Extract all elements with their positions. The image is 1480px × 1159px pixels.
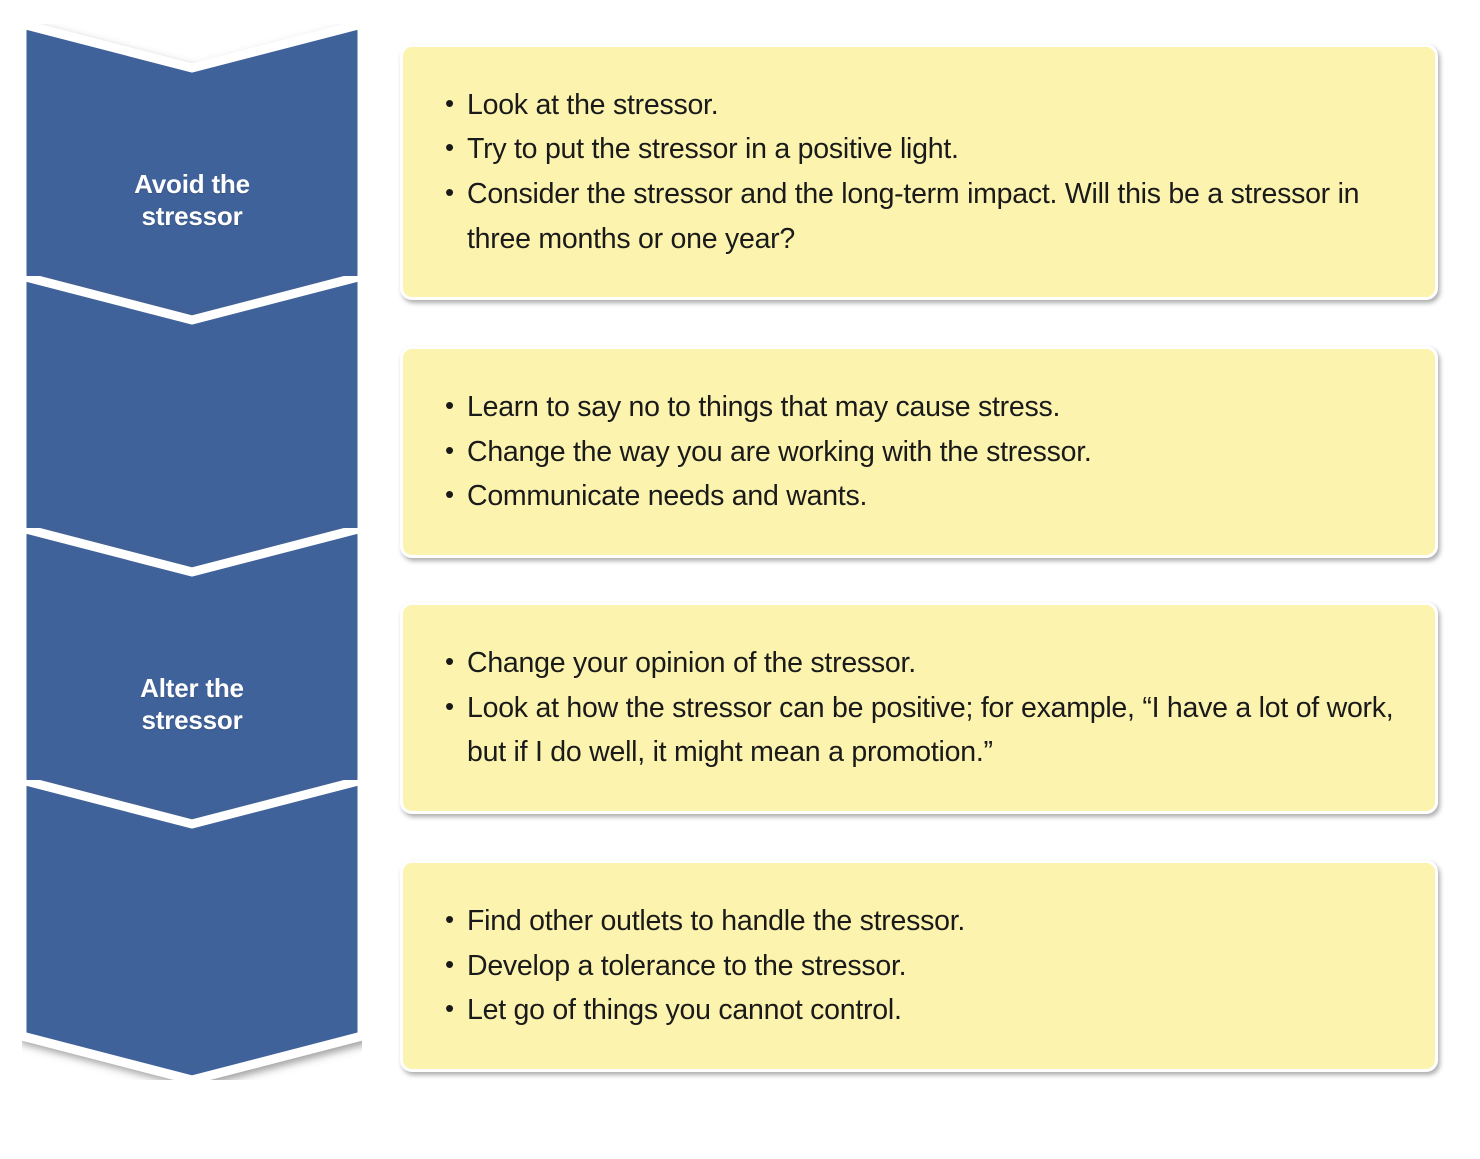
chevron-shape-icon xyxy=(22,780,362,1080)
content-panel-adapt: Change your opinion of the stressor. Loo… xyxy=(400,602,1438,814)
content-panel-alter: Learn to say no to things that may cause… xyxy=(400,346,1438,558)
list-item: Communicate needs and wants. xyxy=(441,474,1409,519)
list-item: Develop a tolerance to the stressor. xyxy=(441,944,1409,989)
list-item: Consider the stressor and the long-term … xyxy=(441,172,1409,261)
list-item: Look at the stressor. xyxy=(441,83,1409,128)
content-panel-accept: Find other outlets to handle the stresso… xyxy=(400,860,1438,1072)
content-panel-avoid: Look at the stressor. Try to put the str… xyxy=(400,44,1438,300)
bullet-list-adapt: Change your opinion of the stressor. Loo… xyxy=(441,641,1409,775)
bullet-list-avoid: Look at the stressor. Try to put the str… xyxy=(441,83,1409,262)
list-item: Change the way you are working with the … xyxy=(441,430,1409,475)
list-item: Look at how the stressor can be positive… xyxy=(441,686,1409,775)
list-item: Let go of things you cannot control. xyxy=(441,988,1409,1033)
bullet-list-accept: Find other outlets to handle the stresso… xyxy=(441,899,1409,1033)
bullet-list-alter: Learn to say no to things that may cause… xyxy=(441,385,1409,519)
list-item: Change your opinion of the stressor. xyxy=(441,641,1409,686)
stress-management-diagram: Avoid thestressor Look at the stressor. … xyxy=(0,0,1480,1159)
list-item: Try to put the stressor in a positive li… xyxy=(441,127,1409,172)
list-item: Learn to say no to things that may cause… xyxy=(441,385,1409,430)
list-item: Find other outlets to handle the stresso… xyxy=(441,899,1409,944)
chevron-step-accept[interactable]: Accept thestressor xyxy=(22,780,362,1080)
